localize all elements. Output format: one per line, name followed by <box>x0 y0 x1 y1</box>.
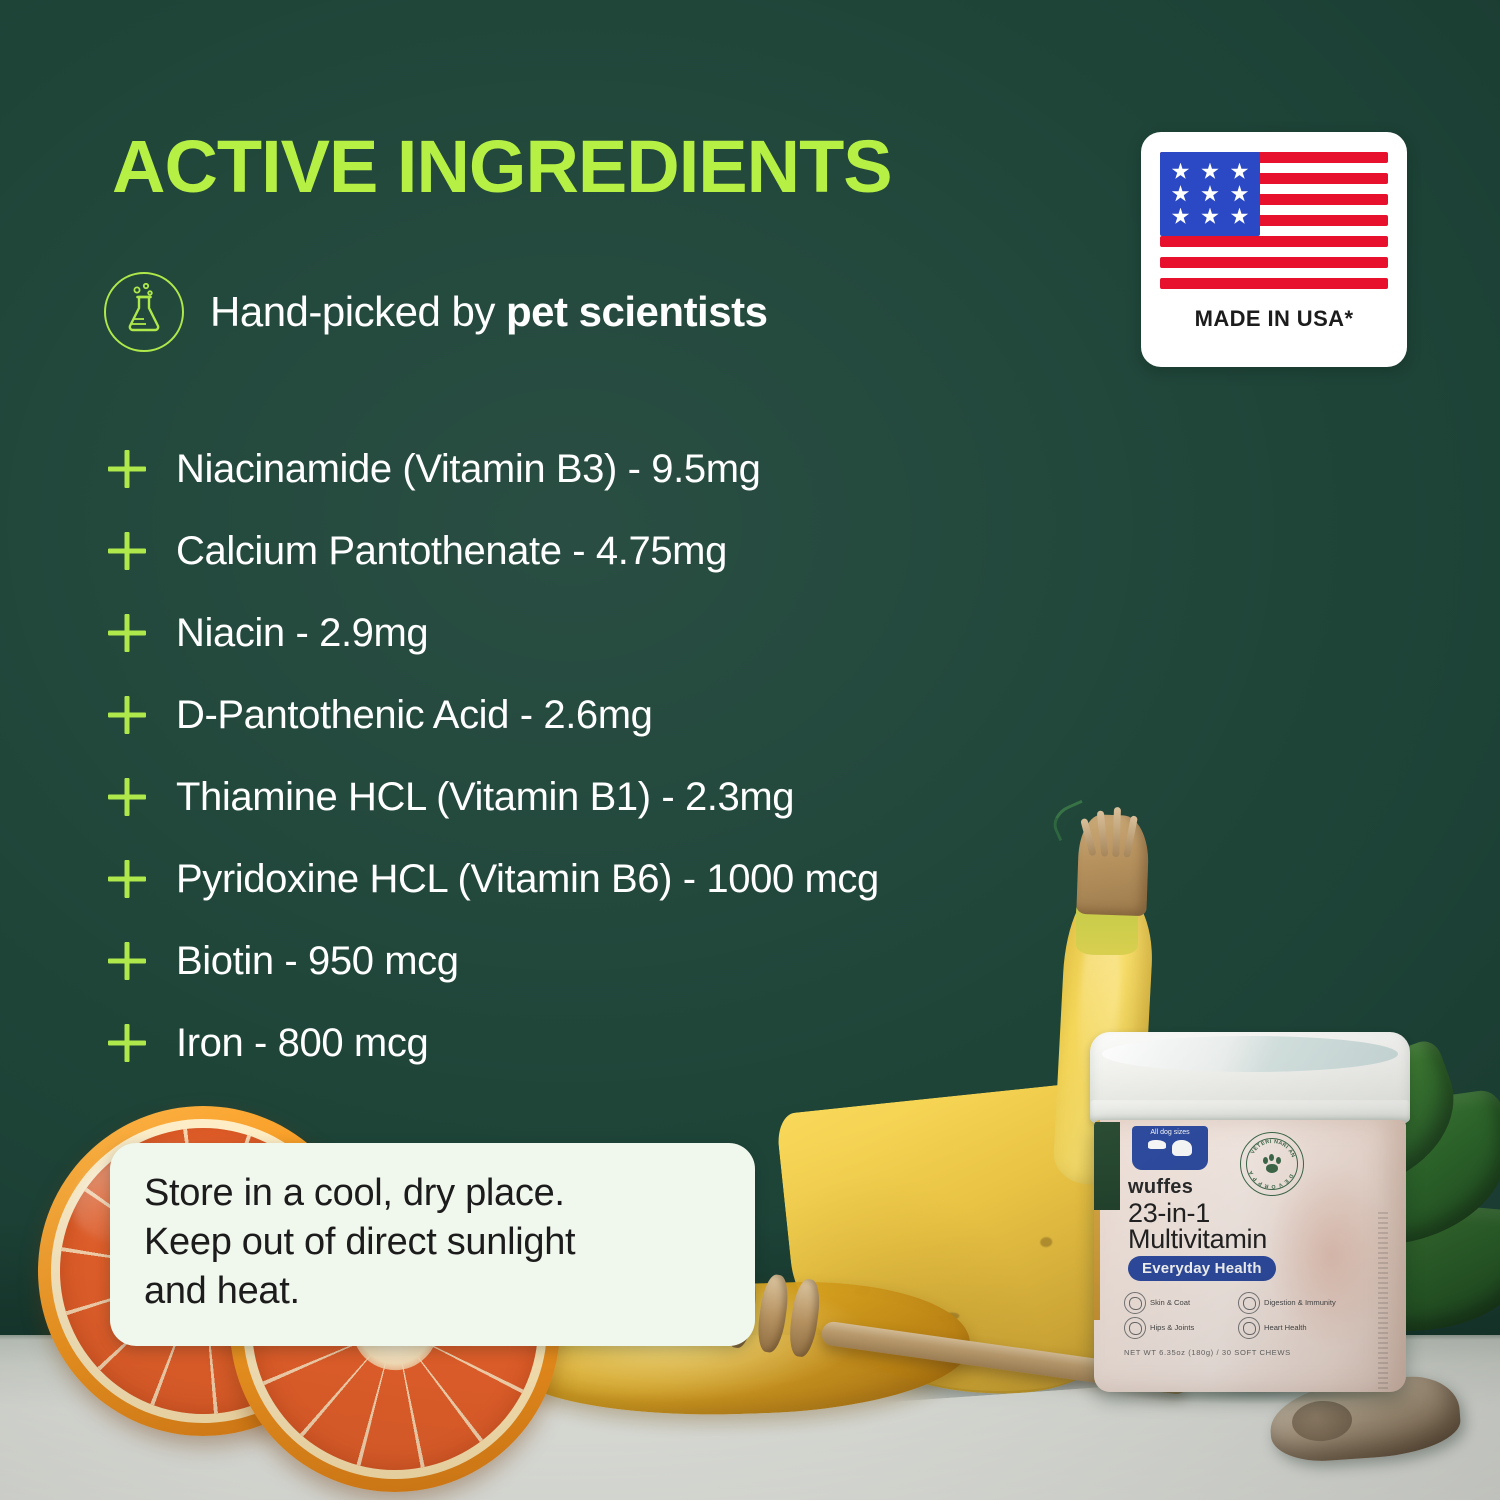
ingredient-label: Niacinamide (Vitamin B3) - 9.5mg <box>176 447 760 492</box>
ingredient-item: Thiamine HCL (Vitamin B1) - 2.3mg <box>104 756 1124 838</box>
ingredient-item: Pyridoxine HCL (Vitamin B6) - 1000 mcg <box>104 838 1124 920</box>
plus-icon <box>104 938 150 984</box>
product-infographic: All dog sizes VETERINARIANAPPROVED wuffe… <box>0 0 1500 1500</box>
flag-canton <box>1160 152 1260 236</box>
star-icon <box>1231 185 1249 203</box>
ingredient-label: Iron - 800 mcg <box>176 1021 428 1066</box>
flag-star-row <box>1160 185 1260 203</box>
made-in-usa-badge: MADE IN USA* <box>1141 132 1407 367</box>
flag-star-row <box>1160 208 1260 226</box>
page-title: ACTIVE INGREDIENTS <box>112 130 892 204</box>
storage-line-2: Keep out of direct sunlight <box>144 1218 721 1267</box>
storage-line-3: and heat. <box>144 1267 721 1316</box>
ingredient-label: Thiamine HCL (Vitamin B1) - 2.3mg <box>176 775 794 820</box>
plus-icon <box>104 692 150 738</box>
plus-icon <box>104 774 150 820</box>
ingredient-item: D-Pantothenic Acid - 2.6mg <box>104 674 1124 756</box>
ingredient-label: Calcium Pantothenate - 4.75mg <box>176 529 727 574</box>
star-icon <box>1172 185 1190 203</box>
star-icon <box>1201 185 1219 203</box>
star-icon <box>1231 163 1249 181</box>
plus-icon <box>104 856 150 902</box>
subhead-row: Hand-picked by pet scientists <box>104 272 767 352</box>
star-icon <box>1201 208 1219 226</box>
ingredient-item: Iron - 800 mcg <box>104 1002 1124 1084</box>
star-icon <box>1201 163 1219 181</box>
ingredient-item: Biotin - 950 mcg <box>104 920 1124 1002</box>
plus-icon <box>104 446 150 492</box>
overlay-content: ACTIVE INGREDIENTS Hand-picked by pet sc… <box>0 0 1500 1500</box>
ingredient-item: Calcium Pantothenate - 4.75mg <box>104 510 1124 592</box>
ingredient-label: D-Pantothenic Acid - 2.6mg <box>176 693 653 738</box>
ingredient-label: Pyridoxine HCL (Vitamin B6) - 1000 mcg <box>176 857 879 902</box>
flask-icon <box>104 272 184 352</box>
storage-text: Store in a cool, dry place. Keep out of … <box>144 1169 721 1316</box>
star-icon <box>1172 208 1190 226</box>
ingredient-label: Niacin - 2.9mg <box>176 611 428 656</box>
plus-icon <box>104 1020 150 1066</box>
plus-icon <box>104 528 150 574</box>
star-icon <box>1231 208 1249 226</box>
us-flag-icon <box>1160 152 1388 294</box>
made-in-usa-label: MADE IN USA* <box>1195 306 1354 332</box>
ingredient-item: Niacin - 2.9mg <box>104 592 1124 674</box>
subhead: Hand-picked by pet scientists <box>210 288 767 336</box>
storage-callout: Store in a cool, dry place. Keep out of … <box>110 1143 755 1346</box>
flag-stripe <box>1160 257 1388 268</box>
flag-stripe <box>1160 278 1388 289</box>
flag-star-row <box>1160 163 1260 181</box>
flag-stripe <box>1160 236 1388 247</box>
ingredient-label: Biotin - 950 mcg <box>176 939 459 984</box>
star-icon <box>1172 163 1190 181</box>
subhead-regular: Hand-picked by <box>210 288 506 335</box>
subhead-bold: pet scientists <box>506 288 767 335</box>
ingredient-list: Niacinamide (Vitamin B3) - 9.5mgCalcium … <box>104 428 1124 1084</box>
ingredient-item: Niacinamide (Vitamin B3) - 9.5mg <box>104 428 1124 510</box>
storage-line-1: Store in a cool, dry place. <box>144 1169 721 1218</box>
plus-icon <box>104 610 150 656</box>
